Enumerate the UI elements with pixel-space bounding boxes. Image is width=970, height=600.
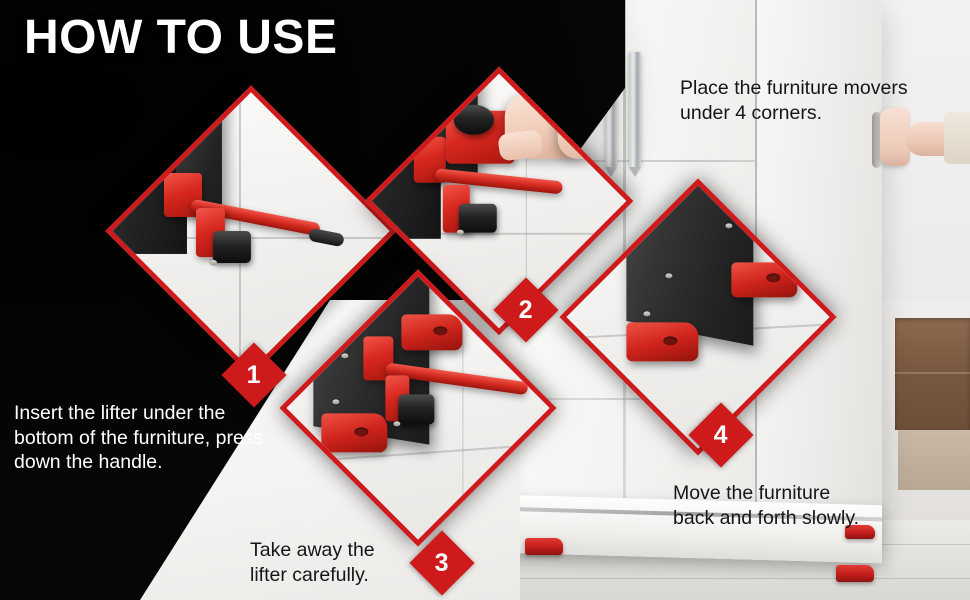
furniture-mover-rear — [731, 262, 797, 298]
step-caption-4: Move the furniture back and forth slowly… — [673, 481, 913, 530]
wood-cabinet — [895, 318, 970, 430]
wardrobe-handle-right — [629, 52, 641, 168]
mover-hole — [767, 273, 781, 282]
furniture-mover-front — [626, 322, 698, 361]
step-caption-1: Insert the lifter under the bottom of th… — [14, 401, 314, 475]
page-title: HOW TO USE — [24, 14, 337, 62]
step-caption-3: Take away the lifter carefully. — [250, 538, 450, 587]
step-badge-2-number: 2 — [519, 298, 533, 323]
furniture-mover-front — [322, 413, 388, 452]
furniture-mover-front-left — [525, 538, 563, 555]
mover-hole — [664, 336, 678, 345]
mover-hole — [433, 327, 447, 336]
panel-screw — [643, 311, 650, 316]
lifter-cap — [454, 105, 494, 134]
lifter-roller — [399, 394, 435, 424]
panel-screw — [341, 353, 348, 358]
infographic-stage: HOW TO USE 1 — [0, 0, 970, 600]
lifter-roller — [459, 204, 496, 233]
mover-hole — [355, 427, 369, 436]
furniture-mover-front-right — [836, 565, 874, 582]
furniture-mover-rear — [401, 314, 462, 350]
floor-seam — [455, 578, 970, 579]
panel-screw — [665, 273, 672, 278]
lifter-roller — [213, 231, 251, 263]
step-caption-2: Place the furniture movers under 4 corne… — [680, 76, 950, 125]
step-badge-4-number: 4 — [714, 423, 728, 448]
step-badge-1-number: 1 — [247, 363, 261, 388]
